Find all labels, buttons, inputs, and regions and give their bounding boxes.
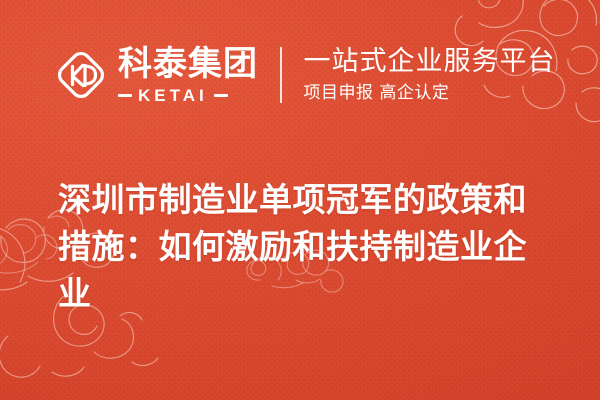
banner-header: 科泰集团 KETAI 一站式企业服务平台 项目申报 高企认定 bbox=[54, 40, 556, 110]
tagline-sub: 项目申报 高企认定 bbox=[304, 84, 556, 103]
tagline-main: 一站式企业服务平台 bbox=[304, 47, 556, 77]
ketai-logo-icon[interactable] bbox=[54, 48, 108, 102]
brand-name-block: 科泰集团 KETAI bbox=[118, 47, 258, 104]
brand-name-en: KETAI bbox=[138, 87, 208, 104]
article-cover-banner: 科泰集团 KETAI 一站式企业服务平台 项目申报 高企认定 深圳市制造业单项冠… bbox=[0, 0, 600, 400]
tagline-block: 一站式企业服务平台 项目申报 高企认定 bbox=[304, 47, 556, 103]
brand-dash-right-icon bbox=[214, 94, 228, 97]
header-divider bbox=[280, 47, 282, 103]
article-title: 深圳市制造业单项冠军的政策和措施：如何激励和扶持制造业企业 bbox=[58, 177, 558, 318]
brand-dash-left-icon bbox=[118, 94, 132, 97]
brand-name-cn: 科泰集团 bbox=[118, 47, 258, 81]
brand-name-en-row: KETAI bbox=[118, 87, 258, 104]
